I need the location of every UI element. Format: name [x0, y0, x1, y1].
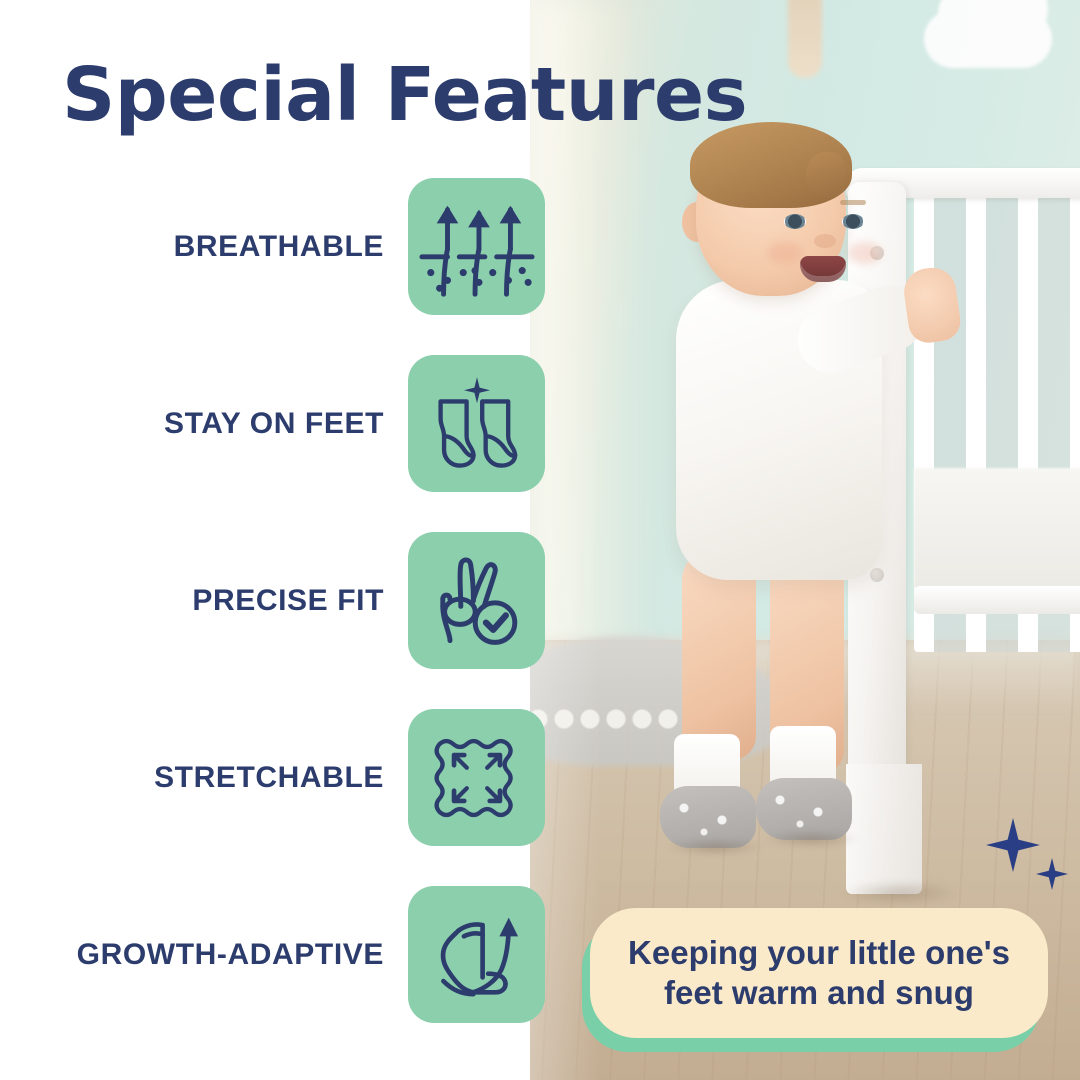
page-title: Special Features: [62, 52, 747, 138]
promo-graphic: Special Features BREATHABLE: [0, 0, 1080, 1080]
feature-item-precise-fit: PRECISE FIT: [0, 532, 545, 669]
feature-item-growth-adaptive: GROWTH-ADAPTIVE: [0, 886, 545, 1023]
feature-item-stretchable: STRETCHABLE: [0, 709, 545, 846]
feature-item-stay-on-feet: STAY ON FEET: [0, 355, 545, 492]
feature-list: BREATHABLE: [0, 178, 545, 1023]
feature-label: STRETCHABLE: [154, 761, 408, 795]
sock-shadow: [762, 830, 860, 848]
baby-eye: [842, 214, 864, 229]
caption-line-1: Keeping your little one's: [628, 934, 1010, 971]
baby-cheek: [768, 242, 802, 264]
baby-sock-right: [756, 726, 852, 844]
caption-banner: Keeping your little one's feet warm and …: [590, 908, 1048, 1048]
baby-sock-left: [660, 734, 756, 852]
stretch-fabric-arrows-icon: [408, 709, 545, 846]
feature-label: BREATHABLE: [174, 230, 408, 264]
feature-label: PRECISE FIT: [192, 584, 408, 618]
pair-of-socks-icon: [408, 355, 545, 492]
baby-eye: [784, 214, 806, 229]
baby-eyebrow: [840, 200, 866, 205]
baby-hand: [901, 265, 963, 346]
baby-cheek: [848, 242, 882, 264]
caption-line-2: feet warm and snug: [664, 974, 974, 1011]
breathable-airflow-icon: [408, 178, 545, 315]
sock-shadow: [666, 838, 764, 856]
baby-mouth: [800, 256, 846, 282]
caption-text: Keeping your little one's feet warm and …: [606, 933, 1032, 1014]
hanging-decor: [788, 0, 822, 78]
feature-label: STAY ON FEET: [164, 407, 408, 441]
sock-growth-arrow-icon: [408, 886, 545, 1023]
baby-nose: [814, 234, 836, 248]
caption-box: Keeping your little one's feet warm and …: [590, 908, 1048, 1038]
feature-label: GROWTH-ADAPTIVE: [77, 938, 408, 972]
cloud-wall-decal: [924, 10, 1052, 68]
baby: [630, 130, 970, 910]
ok-hand-check-icon: [408, 532, 545, 669]
feature-item-breathable: BREATHABLE: [0, 178, 545, 315]
